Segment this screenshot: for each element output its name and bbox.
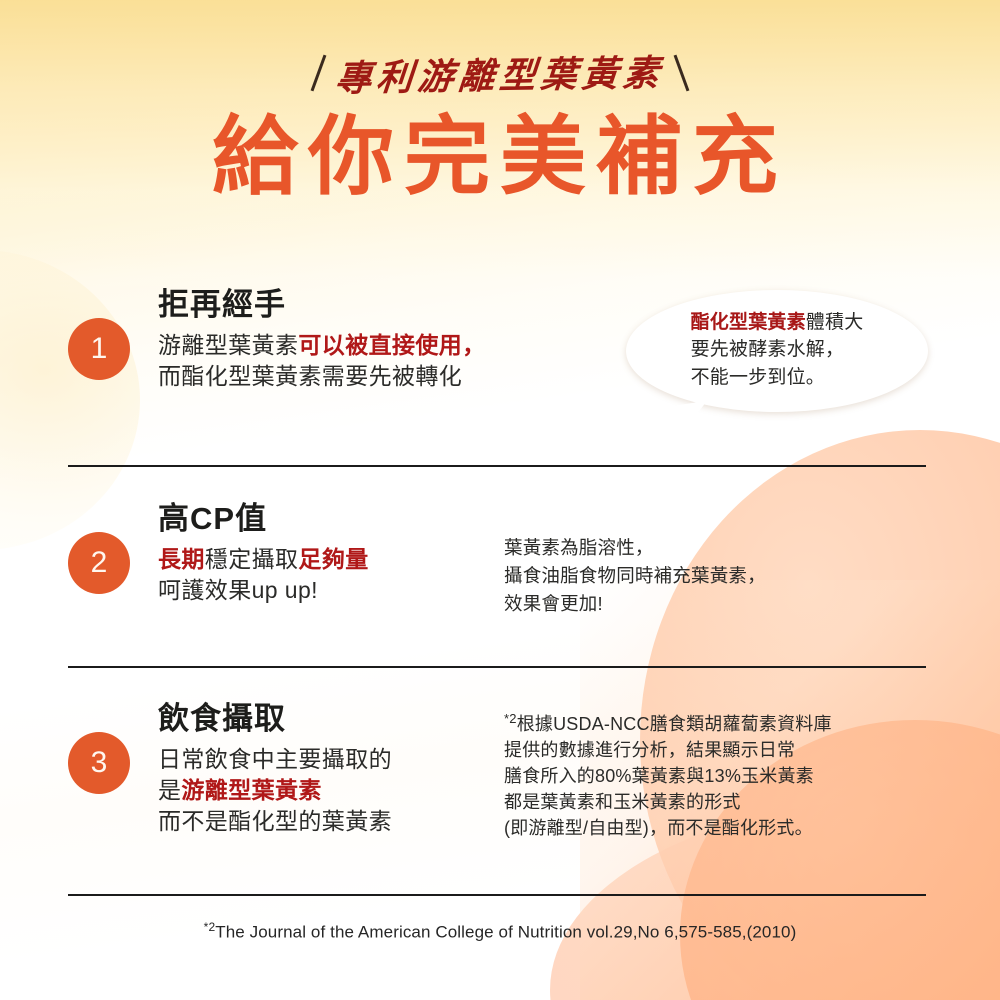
section-two-note-text: 葉黃素為脂溶性， 攝食油脂食物同時補充葉黃素， 效果會更加! bbox=[504, 534, 928, 617]
citation-footer: *2The Journal of the American College of… bbox=[0, 920, 1000, 943]
tagline-row: 專利游離型葉黃素 bbox=[0, 44, 1000, 102]
slash-left-icon bbox=[311, 55, 327, 92]
section-three-body-line-1: 日常飲食中主要攝取的 bbox=[158, 744, 488, 775]
infographic-poster: 專利游離型葉黃素 給你完美補充 1 拒再經手 游離型葉黃素可以被直接使用， 而酯… bbox=[0, 0, 1000, 1000]
poster-header: 專利游離型葉黃素 給你完美補充 bbox=[0, 44, 1000, 202]
footnote-line-3: 膳食所入的80%葉黃素與13%玉米黃素 bbox=[504, 763, 928, 789]
section-two-text: 高CP值 長期穩定攝取足夠量 呵護效果up up! bbox=[158, 500, 488, 606]
section-two-body-line-1: 長期穩定攝取足夠量 bbox=[158, 544, 488, 575]
citation-superscript: *2 bbox=[204, 920, 216, 934]
note-line-3: 效果會更加! bbox=[504, 590, 928, 618]
body-highlight-comma: ， bbox=[462, 332, 485, 358]
section-three-note-text: *2根據USDA-NCC膳食類胡蘿蔔素資料庫 提供的數據進行分析，結果顯示日常 … bbox=[504, 710, 928, 841]
body-highlight-text: 游離型葉黃素 bbox=[181, 777, 321, 803]
section-one-text: 拒再經手 游離型葉黃素可以被直接使用， 而酯化型葉黃素需要先被轉化 bbox=[158, 286, 488, 392]
footnote-line-1: *2根據USDA-NCC膳食類胡蘿蔔素資料庫 bbox=[504, 710, 928, 737]
section-one-body-line-2: 而酯化型葉黃素需要先被轉化 bbox=[158, 361, 488, 392]
divider-three bbox=[68, 894, 926, 896]
footnote-line-5: (即游離型/自由型)，而不是酯化形式。 bbox=[504, 815, 928, 841]
section-one-heading: 拒再經手 bbox=[158, 286, 488, 325]
bubble-highlight-text: 酯化型葉黃素 bbox=[691, 312, 806, 333]
divider-two bbox=[68, 666, 926, 668]
body-highlight-text: 可以被直接使用 bbox=[298, 332, 462, 358]
footnote-superscript: *2 bbox=[504, 711, 517, 726]
footnote-line-4: 都是葉黃素和玉米黃素的形式 bbox=[504, 789, 928, 815]
note-line-2: 攝食油脂食物同時補充葉黃素， bbox=[504, 562, 928, 590]
section-one-body-line-1: 游離型葉黃素可以被直接使用， bbox=[158, 330, 488, 361]
section-two: 2 高CP值 長期穩定攝取足夠量 呵護效果up up! 葉黃素為脂溶性， 攝食油… bbox=[68, 500, 928, 617]
section-number-badge-3: 3 bbox=[68, 732, 130, 794]
section-three-body: 日常飲食中主要攝取的 是游離型葉黃素 而不是酯化型的葉黃素 bbox=[158, 744, 488, 838]
bubble-line-2: 要先被酵素水解， bbox=[691, 336, 864, 364]
page-title: 給你完美補充 bbox=[0, 112, 1000, 202]
bubble-line-1-tail: 體積大 bbox=[806, 312, 864, 333]
section-three: 3 飲食攝取 日常飲食中主要攝取的 是游離型葉黃素 而不是酯化型的葉黃素 *2根… bbox=[68, 700, 928, 841]
footnote-line-2: 提供的數據進行分析，結果顯示日常 bbox=[504, 737, 928, 763]
section-number-badge-1: 1 bbox=[68, 318, 130, 380]
section-three-body-line-3: 而不是酯化型的葉黃素 bbox=[158, 806, 488, 837]
section-three-text: 飲食攝取 日常飲食中主要攝取的 是游離型葉黃素 而不是酯化型的葉黃素 bbox=[158, 700, 488, 838]
note-line-1: 葉黃素為脂溶性， bbox=[504, 534, 928, 562]
body-plain-prefix: 是 bbox=[158, 777, 181, 803]
citation-text: The Journal of the American College of N… bbox=[215, 923, 796, 942]
section-one-body: 游離型葉黃素可以被直接使用， 而酯化型葉黃素需要先被轉化 bbox=[158, 330, 488, 393]
tagline-text: 專利游離型葉黃素 bbox=[333, 44, 666, 102]
footnote-line-1-text: 根據USDA-NCC膳食類胡蘿蔔素資料庫 bbox=[517, 714, 832, 734]
body-highlight-one: 長期 bbox=[158, 546, 205, 572]
section-one: 1 拒再經手 游離型葉黃素可以被直接使用， 而酯化型葉黃素需要先被轉化 酯化型葉… bbox=[68, 286, 928, 392]
body-highlight-two: 足夠量 bbox=[298, 546, 368, 572]
section-three-note: *2根據USDA-NCC膳食類胡蘿蔔素資料庫 提供的數據進行分析，結果顯示日常 … bbox=[504, 710, 928, 841]
speech-bubble-text: 酯化型葉黃素體積大 要先被酵素水解， 不能一步到位。 bbox=[691, 309, 864, 394]
speech-bubble: 酯化型葉黃素體積大 要先被酵素水解， 不能一步到位。 bbox=[626, 290, 928, 412]
body-plain-text: 游離型葉黃素 bbox=[158, 332, 298, 358]
section-number-badge-2: 2 bbox=[68, 532, 130, 594]
bubble-line-3: 不能一步到位。 bbox=[691, 364, 864, 392]
section-three-body-line-2: 是游離型葉黃素 bbox=[158, 775, 488, 806]
bubble-line-1: 酯化型葉黃素體積大 bbox=[691, 309, 864, 337]
slash-right-icon bbox=[674, 55, 690, 92]
section-two-body-line-2: 呵護效果up up! bbox=[158, 575, 488, 606]
body-middle-text: 穩定攝取 bbox=[205, 546, 299, 572]
section-two-body: 長期穩定攝取足夠量 呵護效果up up! bbox=[158, 544, 488, 607]
section-two-heading: 高CP值 bbox=[158, 500, 488, 539]
section-three-heading: 飲食攝取 bbox=[158, 700, 488, 739]
divider-one bbox=[68, 465, 926, 467]
section-two-note: 葉黃素為脂溶性， 攝食油脂食物同時補充葉黃素， 效果會更加! bbox=[504, 534, 928, 617]
